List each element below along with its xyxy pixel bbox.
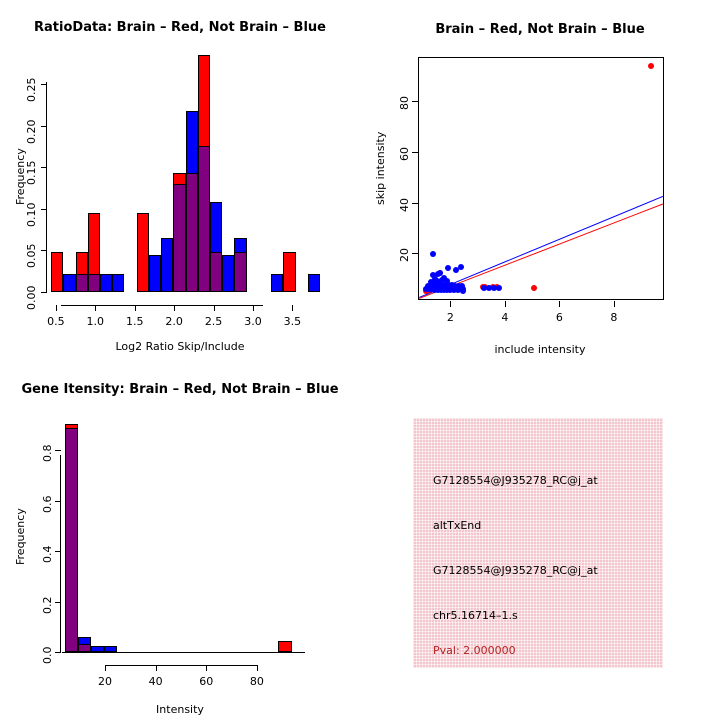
ratio-bar-not-brain: [63, 274, 75, 292]
gene-y-tick: [55, 450, 61, 451]
ratio-y-tick: [41, 292, 47, 293]
gene-x-tick: [257, 665, 258, 671]
scatter-x-ticklabel: 4: [495, 311, 515, 324]
ratio-x-ticklabel: 3.5: [281, 315, 303, 328]
ratio-bar-not-brain: [222, 255, 234, 292]
gene-histogram-plot-area: [62, 420, 305, 652]
scatter-point-not-brain: [460, 288, 466, 294]
gene-y-ticklabel: 0.2: [41, 596, 54, 614]
scatter-y-ticklabel: 80: [398, 96, 411, 110]
ratio-bar-not-brain: [161, 238, 173, 292]
ratio-x-ticklabel: 0.5: [45, 315, 67, 328]
ratio-x-tick: [214, 305, 215, 311]
ratio-histogram-x-axis: [61, 305, 263, 306]
scatter-y-ticklabel: 60: [398, 147, 411, 161]
ratio-x-tick: [56, 305, 57, 311]
ratio-bar-brain: [283, 252, 295, 292]
gene-histogram-x-axis: [62, 652, 305, 653]
ratio-bar-overlap: [186, 173, 198, 292]
scatter-x-ticklabel: 6: [549, 311, 569, 324]
figure-canvas: RatioData: Brain – Red, Not Brain – Blue…: [0, 0, 720, 720]
scatter-point-brain: [648, 63, 654, 69]
scatter-y-tick: [412, 203, 418, 204]
gene-x-ticklabel: 20: [95, 675, 115, 688]
scatter-xlabel: include intensity: [360, 343, 720, 356]
ratio-x-ticklabel: 1.0: [84, 315, 106, 328]
ratio-bar-overlap: [88, 274, 100, 292]
ratio-y-tick: [41, 126, 47, 127]
scatter-y-ticklabel: 20: [398, 248, 411, 262]
scatter-y-tick: [412, 101, 418, 102]
ratio-y-ticklabel: 0.20: [25, 119, 38, 144]
ratio-histogram-title: RatioData: Brain – Red, Not Brain – Blue: [0, 20, 360, 35]
scatter-x-tick: [505, 301, 506, 307]
ratio-bar-not-brain: [271, 274, 283, 292]
gene-y-tick: [55, 602, 61, 603]
scatter-x-tick: [614, 301, 615, 307]
gene-y-ticklabel: 0.0: [41, 647, 54, 665]
ratio-bar-not-brain: [112, 274, 124, 292]
panel-gene-info: G7128554@J935278_RC@j_at altTxEnd G71285…: [360, 360, 720, 720]
ratio-bar-not-brain: [308, 274, 320, 292]
ratio-histogram-y-axis: [46, 82, 47, 293]
gene-x-ticklabel: 80: [247, 675, 267, 688]
ratio-bar-brain: [137, 213, 149, 292]
ratio-y-ticklabel: 0.25: [25, 78, 38, 103]
gene-info-background: G7128554@J935278_RC@j_at altTxEnd G71285…: [413, 418, 663, 668]
gene-histogram-y-axis: [60, 455, 61, 653]
gene-info-pval: Pval: 2.000000: [433, 644, 516, 657]
gene-info-gene-id: G7128554@J935278_RC@j_at: [433, 564, 598, 577]
ratio-x-tick: [292, 305, 293, 311]
gene-x-ticklabel: 40: [146, 675, 166, 688]
ratio-bar-overlap: [210, 252, 222, 292]
gene-y-tick: [55, 551, 61, 552]
gene-histogram-xlabel: Intensity: [0, 703, 360, 716]
gene-y-tick: [55, 501, 61, 502]
ratio-y-ticklabel: 0.00: [25, 286, 38, 311]
gene-info-event-type: altTxEnd: [433, 519, 481, 532]
panel-ratio-histogram: RatioData: Brain – Red, Not Brain – Blue…: [0, 0, 360, 360]
scatter-x-ticklabel: 2: [440, 311, 460, 324]
scatter-x-ticklabel: 8: [604, 311, 624, 324]
gene-y-ticklabel: 0.4: [41, 546, 54, 564]
panel-gene-intensity-histogram: Gene Itensity: Brain – Red, Not Brain – …: [0, 360, 360, 720]
ratio-y-ticklabel: 0.10: [25, 202, 38, 227]
scatter-x-tick: [559, 301, 560, 307]
gene-y-ticklabel: 0.6: [41, 495, 54, 513]
ratio-bar-brain: [51, 252, 63, 292]
scatter-ylabel: skip intensity: [374, 132, 387, 205]
scatter-x-tick: [450, 301, 451, 307]
scatter-y-tick: [412, 152, 418, 153]
gene-x-ticklabel: 60: [196, 675, 216, 688]
gene-bar-overlap: [78, 644, 91, 652]
ratio-bar-not-brain: [100, 274, 112, 292]
ratio-y-tick: [41, 84, 47, 85]
ratio-x-ticklabel: 2.0: [163, 315, 185, 328]
gene-info-locus: chr5.16714–1.s: [433, 609, 518, 622]
ratio-y-ticklabel: 0.15: [25, 161, 38, 186]
gene-info-probeset-id: G7128554@J935278_RC@j_at: [433, 474, 598, 487]
gene-y-ticklabel: 0.8: [41, 445, 54, 463]
ratio-x-ticklabel: 3.0: [242, 315, 264, 328]
scatter-point-not-brain: [496, 285, 502, 291]
scatter-point-brain: [531, 285, 537, 291]
ratio-y-tick: [41, 250, 47, 251]
scatter-y-ticklabel: 40: [398, 198, 411, 212]
ratio-histogram-xlabel: Log2 Ratio Skip/Include: [0, 340, 360, 353]
ratio-bar-not-brain: [149, 255, 161, 292]
scatter-plot-area: [419, 58, 663, 299]
ratio-x-ticklabel: 1.5: [124, 315, 146, 328]
scatter-title: Brain – Red, Not Brain – Blue: [360, 22, 720, 37]
ratio-x-tick: [135, 305, 136, 311]
ratio-y-tick: [41, 209, 47, 210]
scatter-point-not-brain: [458, 264, 464, 270]
scatter-point-not-brain: [430, 251, 436, 257]
gene-bar-overlap: [65, 428, 78, 652]
gene-bar-brain: [278, 641, 291, 652]
gene-x-tick-rail: [105, 665, 257, 666]
panel-intensity-scatter: Brain – Red, Not Brain – Blue skip inten…: [360, 0, 720, 360]
ratio-x-tick: [253, 305, 254, 311]
ratio-bar-overlap: [76, 274, 88, 292]
ratio-bar-overlap: [173, 184, 185, 292]
ratio-histogram-plot-area: [48, 55, 320, 292]
ratio-y-tick: [41, 167, 47, 168]
ratio-bar-overlap: [234, 252, 246, 292]
ratio-bar-overlap: [198, 146, 210, 292]
ratio-x-tick: [95, 305, 96, 311]
ratio-x-tick: [174, 305, 175, 311]
gene-histogram-ylabel: Frequency: [14, 508, 27, 565]
scatter-point-not-brain: [445, 265, 451, 271]
ratio-x-ticklabel: 2.5: [203, 315, 225, 328]
scatter-y-tick: [412, 253, 418, 254]
ratio-y-ticklabel: 0.05: [25, 244, 38, 269]
gene-y-tick: [55, 652, 61, 653]
gene-histogram-title: Gene Itensity: Brain – Red, Not Brain – …: [0, 382, 360, 397]
